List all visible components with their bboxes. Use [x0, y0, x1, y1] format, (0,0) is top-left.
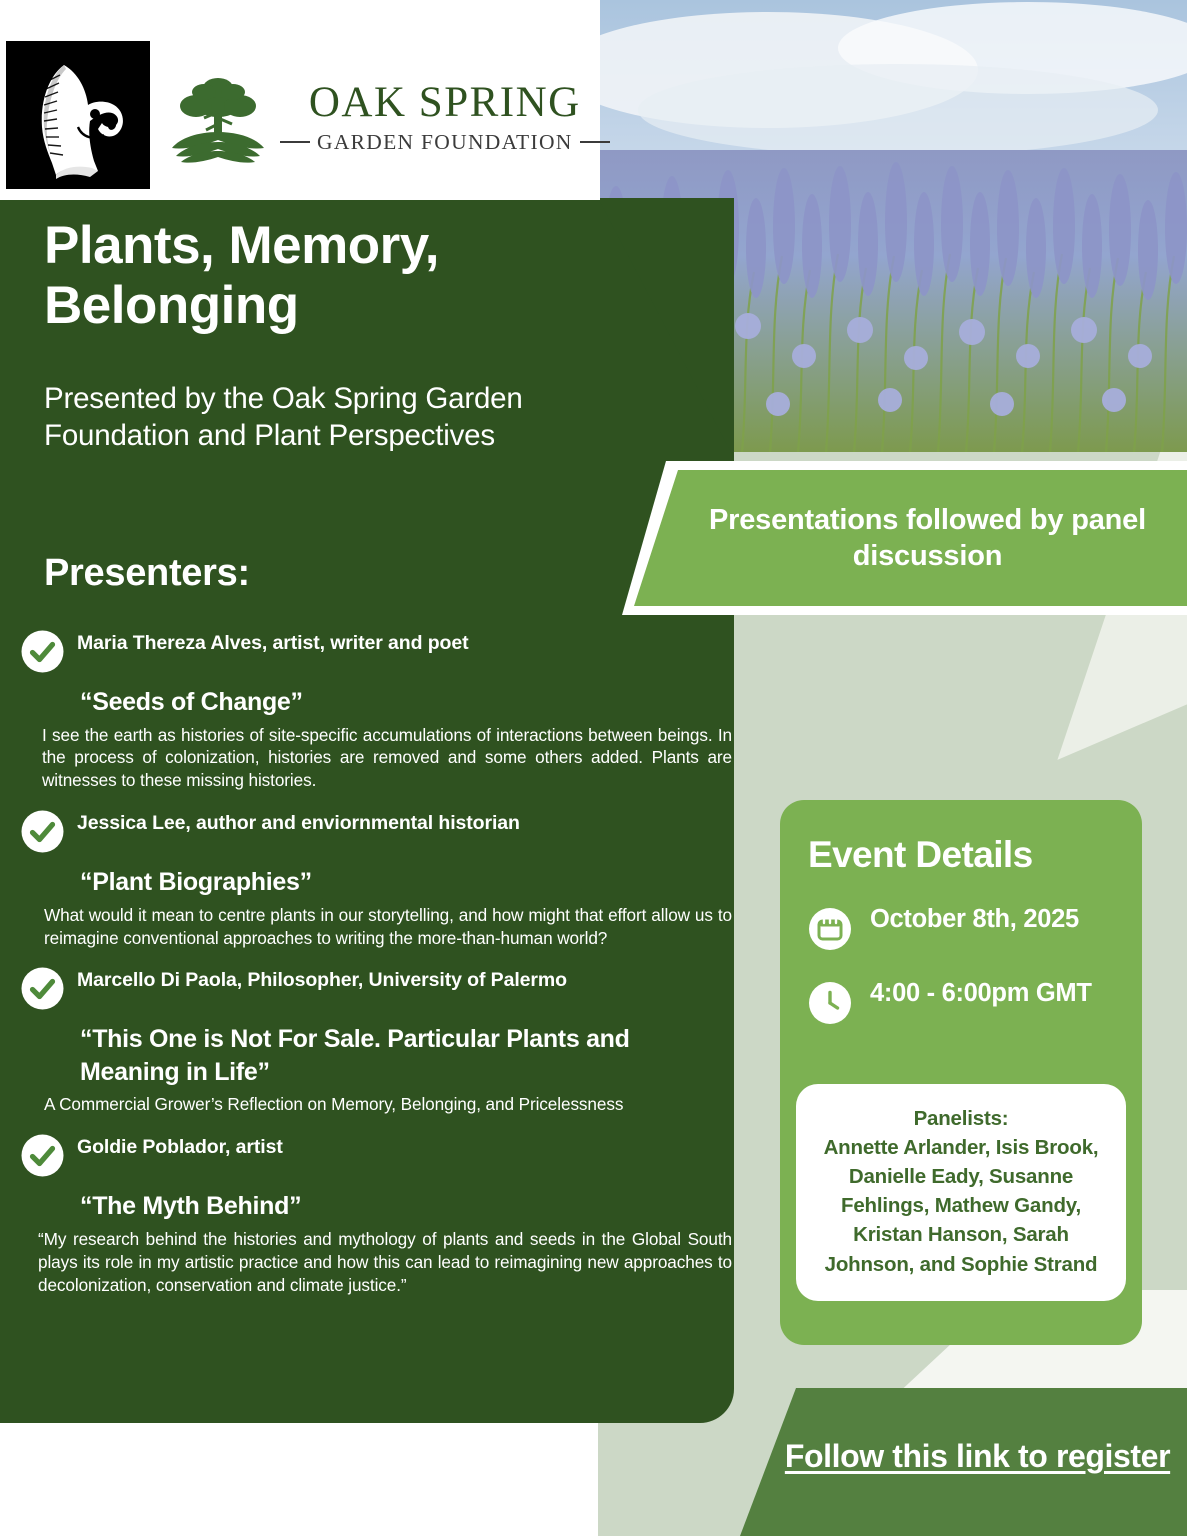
- page-title-line-1: Plants, Memory,: [44, 216, 439, 275]
- register-link[interactable]: Follow this link to register: [757, 1436, 1170, 1488]
- presenter-description: What would it mean to centre plants in o…: [44, 904, 732, 950]
- panelists-box: Panelists: Annette Arlander, Isis Brook,…: [796, 1084, 1126, 1301]
- presenter-name: Goldie Poblador, artist: [77, 1132, 283, 1160]
- presenter-description: “My research behind the histories and my…: [38, 1228, 732, 1297]
- plant-perspectives-logo: [6, 41, 150, 189]
- presenter-description: A Commercial Grower’s Reflection on Memo…: [44, 1093, 732, 1116]
- presenter-talk-title: “The Myth Behind”: [80, 1190, 720, 1223]
- list-item: Goldie Poblador, artist “The Myth Behind…: [20, 1132, 720, 1296]
- presenter-talk-title: “This One is Not For Sale. Particular Pl…: [80, 1023, 720, 1088]
- presenter-description: I see the earth as histories of site-spe…: [42, 724, 732, 793]
- list-item: Jessica Lee, author and enviornmental hi…: [20, 808, 720, 949]
- oak-spring-garden-foundation-logo: OAK SPRING GARDEN FOUNDATION: [168, 65, 568, 170]
- foundation-logo-title: OAK SPRING: [309, 81, 581, 124]
- calendar-icon: [808, 907, 852, 956]
- list-item: Maria Thereza Alves, artist, writer and …: [20, 628, 720, 792]
- panelists-names: Annette Arlander, Isis Brook, Danielle E…: [810, 1133, 1112, 1279]
- panelists-label: Panelists:: [810, 1104, 1112, 1133]
- banner-green-fill: Presentations followed by panel discussi…: [634, 470, 1187, 606]
- event-details-card: Event Details October 8th, 2025: [780, 800, 1142, 1345]
- list-item: Marcello Di Paola, Philosopher, Universi…: [20, 965, 720, 1116]
- event-time-row: 4:00 - 6:00pm GMT: [808, 978, 1116, 1030]
- event-flyer: OAK SPRING GARDEN FOUNDATION Plants, Mem…: [0, 0, 1187, 1536]
- panel-discussion-banner: Presentations followed by panel discussi…: [622, 461, 1187, 615]
- foundation-logo-subtitle: GARDEN FOUNDATION: [317, 130, 573, 155]
- presenters-heading: Presenters:: [44, 552, 250, 595]
- oak-tree-icon: [168, 72, 268, 164]
- presenter-name: Maria Thereza Alves, artist, writer and …: [77, 628, 469, 656]
- presenter-name: Jessica Lee, author and enviornmental hi…: [77, 808, 520, 836]
- page-title: Plants, Memory, Belonging: [44, 216, 584, 336]
- logo-rule-right: [580, 141, 610, 143]
- presenter-talk-title: “Seeds of Change”: [80, 686, 720, 719]
- presenter-talk-title: “Plant Biographies”: [80, 866, 720, 899]
- check-circle-icon: [20, 809, 65, 859]
- event-date-row: October 8th, 2025: [808, 904, 1116, 956]
- event-time: 4:00 - 6:00pm GMT: [870, 978, 1092, 1009]
- page-subtitle: Presented by the Oak Spring Garden Found…: [44, 380, 584, 454]
- check-circle-icon: [20, 1133, 65, 1183]
- register-bar[interactable]: Follow this link to register: [740, 1388, 1187, 1536]
- event-date: October 8th, 2025: [870, 904, 1079, 935]
- event-details-heading: Event Details: [808, 834, 1116, 876]
- check-circle-icon: [20, 966, 65, 1016]
- page-title-line-2: Belonging: [44, 276, 299, 335]
- presenters-list: Maria Thereza Alves, artist, writer and …: [20, 628, 720, 1312]
- logo-rule-left: [280, 141, 310, 143]
- check-circle-icon: [20, 629, 65, 679]
- clock-icon: [808, 981, 852, 1030]
- title-block: Plants, Memory, Belonging Presented by t…: [44, 216, 584, 454]
- banner-text: Presentations followed by panel discussi…: [634, 502, 1187, 575]
- presenter-name: Marcello Di Paola, Philosopher, Universi…: [77, 965, 567, 993]
